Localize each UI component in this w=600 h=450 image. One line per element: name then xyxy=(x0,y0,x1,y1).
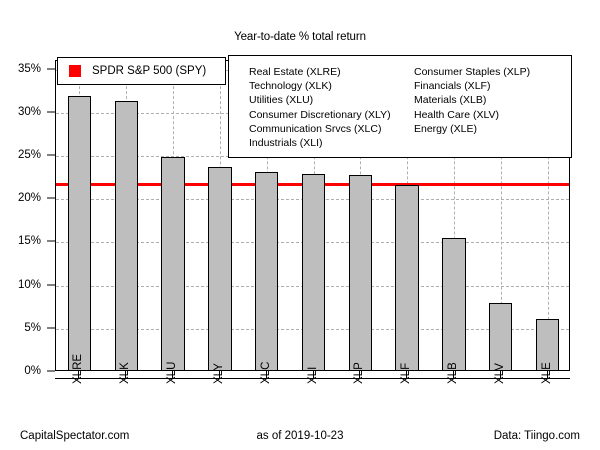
bar-xlp[interactable] xyxy=(349,175,372,371)
bar-xlc[interactable] xyxy=(255,172,278,371)
x-axis-tick-label-xlre: XLRE xyxy=(72,354,84,384)
bar-xlb[interactable] xyxy=(442,238,465,371)
y-axis-tick-mark xyxy=(47,111,55,112)
bar-xly[interactable] xyxy=(208,167,231,371)
y-axis-tick-label: 15% xyxy=(18,235,41,247)
x-axis-tick-label-xlu: XLU xyxy=(166,362,178,384)
bar-xlv[interactable] xyxy=(489,303,512,371)
sector-legend-entry-left-5: Industrials (XLI) xyxy=(249,136,391,150)
sector-legend-right-column: Consumer Staples (XLP)Financials (XLF)Ma… xyxy=(414,65,530,136)
sector-legend-entry-right-3: Health Care (XLV) xyxy=(414,108,530,122)
sector-legend-box: Real Estate (XLRE)Technology (XLK)Utilit… xyxy=(228,55,572,158)
bar-xlu[interactable] xyxy=(161,157,184,371)
y-axis-tick-label: 10% xyxy=(18,279,41,291)
bar-xlf[interactable] xyxy=(395,185,418,371)
sector-legend-entry-right-4: Energy (XLE) xyxy=(414,122,530,136)
sector-legend-entry-left-4: Communication Srvcs (XLC) xyxy=(249,122,391,136)
sector-legend-entry-left-0: Real Estate (XLRE) xyxy=(249,65,391,79)
x-axis-tick-label-xly: XLY xyxy=(213,363,225,384)
chart-title: Year-to-date % total return xyxy=(0,31,600,43)
x-axis-tick-label-xlc: XLC xyxy=(260,362,272,384)
y-axis-tick-mark xyxy=(47,241,55,242)
sector-legend-entry-right-1: Financials (XLF) xyxy=(414,79,530,93)
x-axis-tick-label-xlp: XLP xyxy=(353,362,365,384)
chart-container: Year-to-date % total return 0%5%10%15%20… xyxy=(0,0,600,450)
y-axis-tick-mark xyxy=(47,155,55,156)
y-axis-tick-label: 25% xyxy=(18,149,41,161)
bar-xlk[interactable] xyxy=(115,101,138,371)
x-axis-tick-label-xlb: XLB xyxy=(447,362,459,384)
y-axis-tick-label: 30% xyxy=(18,106,41,118)
sector-legend-left-column: Real Estate (XLRE)Technology (XLK)Utilit… xyxy=(249,65,391,150)
y-axis-tick-label: 35% xyxy=(18,63,41,75)
spy-legend-box: SPDR S&P 500 (SPY) xyxy=(57,57,226,85)
x-axis-tick-label-xlk: XLK xyxy=(119,362,131,384)
y-axis-tick-mark xyxy=(47,68,55,69)
y-axis-tick-mark xyxy=(47,327,55,328)
spy-color-swatch xyxy=(69,65,81,77)
y-axis-tick-label: 20% xyxy=(18,192,41,204)
y-axis-tick-mark xyxy=(47,371,55,372)
sector-legend-entry-left-1: Technology (XLK) xyxy=(249,79,391,93)
sector-legend-entry-left-3: Consumer Discretionary (XLY) xyxy=(249,108,391,122)
bar-xlre[interactable] xyxy=(68,96,91,371)
sector-legend-entry-left-2: Utilities (XLU) xyxy=(249,93,391,107)
y-axis: 0%5%10%15%20%25%30%35% xyxy=(0,60,55,371)
y-axis-tick-mark xyxy=(47,198,55,199)
y-axis-tick-label: 0% xyxy=(24,365,41,377)
y-axis-tick-mark xyxy=(47,284,55,285)
x-axis-tick-label-xle: XLE xyxy=(541,362,553,384)
sector-legend-entry-right-0: Consumer Staples (XLP) xyxy=(414,65,530,79)
x-axis-tick-label-xli: XLI xyxy=(307,367,319,384)
x-axis-tick-label-xlv: XLV xyxy=(494,363,506,384)
bar-xli[interactable] xyxy=(302,174,325,371)
y-axis-tick-label: 5% xyxy=(24,322,41,334)
footer-data-provider: Data: Tiingo.com xyxy=(494,430,580,442)
spy-legend-label: SPDR S&P 500 (SPY) xyxy=(92,65,206,77)
x-axis-tick-label-xlf: XLF xyxy=(400,363,412,384)
sector-legend-entry-right-2: Materials (XLB) xyxy=(414,93,530,107)
